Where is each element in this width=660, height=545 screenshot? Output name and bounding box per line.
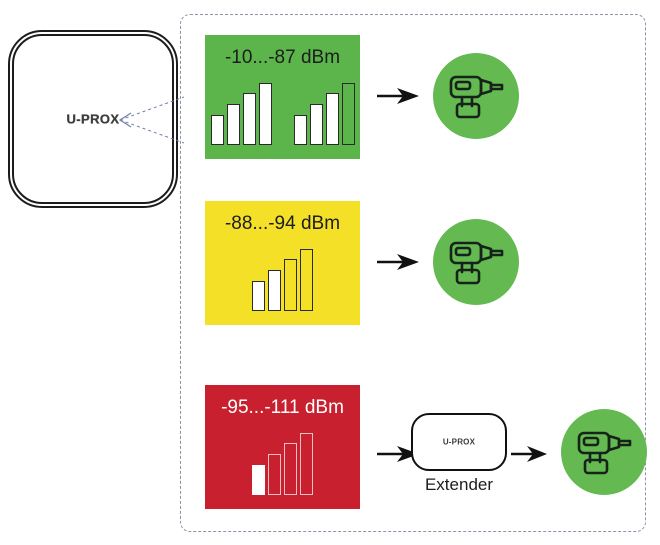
signal-bars-area-good — [205, 83, 360, 145]
leader-line-upper — [120, 97, 184, 120]
signal-bar — [259, 83, 272, 145]
arrow-right-icon — [377, 251, 421, 273]
signal-row-good: -10...-87 dBm — [181, 35, 645, 165]
leader-lines — [118, 95, 188, 145]
signal-bar-group — [211, 83, 272, 145]
signal-bar — [342, 83, 355, 145]
drill-icon — [447, 70, 505, 122]
signal-bar — [326, 93, 339, 145]
signal-range-label-good: -10...-87 dBm — [205, 47, 360, 69]
signal-bars-area-poor — [205, 433, 360, 495]
leader-line-lower — [120, 120, 184, 143]
signal-bars-area-medium — [205, 249, 360, 311]
extender-caption: Extender — [399, 475, 519, 495]
signal-row-medium: -88...-94 dBm — [181, 201, 645, 331]
extender-device: U-PROX Extender — [411, 413, 507, 489]
signal-row-poor: -95...-111 dBm U-PROX Extender — [181, 385, 645, 515]
signal-bar — [284, 443, 297, 495]
signal-level-card-poor: -95...-111 dBm — [205, 385, 360, 509]
signal-bar — [284, 259, 297, 311]
device-badge-good — [433, 53, 519, 139]
signal-bar — [268, 270, 281, 311]
coverage-zone-container: -10...-87 dBm — [180, 14, 646, 532]
arrow-right-icon — [511, 443, 549, 465]
signal-bar — [300, 433, 313, 495]
extender-logo-text: U-PROX — [413, 438, 505, 447]
signal-bar-group — [252, 249, 313, 311]
signal-level-card-good: -10...-87 dBm — [205, 35, 360, 159]
signal-bar — [294, 115, 307, 145]
signal-bar — [243, 93, 256, 145]
signal-bar — [310, 104, 323, 145]
arrow-right-icon — [377, 85, 421, 107]
extender-body: U-PROX — [411, 413, 507, 471]
signal-range-label-medium: -88...-94 dBm — [205, 213, 360, 235]
signal-level-card-medium: -88...-94 dBm — [205, 201, 360, 325]
device-badge-medium — [433, 219, 519, 305]
signal-bar — [211, 115, 224, 145]
leader-arrowhead — [120, 113, 131, 127]
signal-bar-group — [252, 433, 313, 495]
signal-bar — [268, 454, 281, 495]
drill-icon — [447, 236, 505, 288]
signal-bar — [252, 281, 265, 311]
device-badge-poor — [561, 409, 647, 495]
signal-bar-group — [294, 83, 355, 145]
drill-icon — [575, 426, 633, 478]
signal-bar — [227, 104, 240, 145]
signal-bar — [300, 249, 313, 311]
signal-range-label-poor: -95...-111 dBm — [205, 397, 360, 419]
signal-bar — [252, 465, 265, 495]
